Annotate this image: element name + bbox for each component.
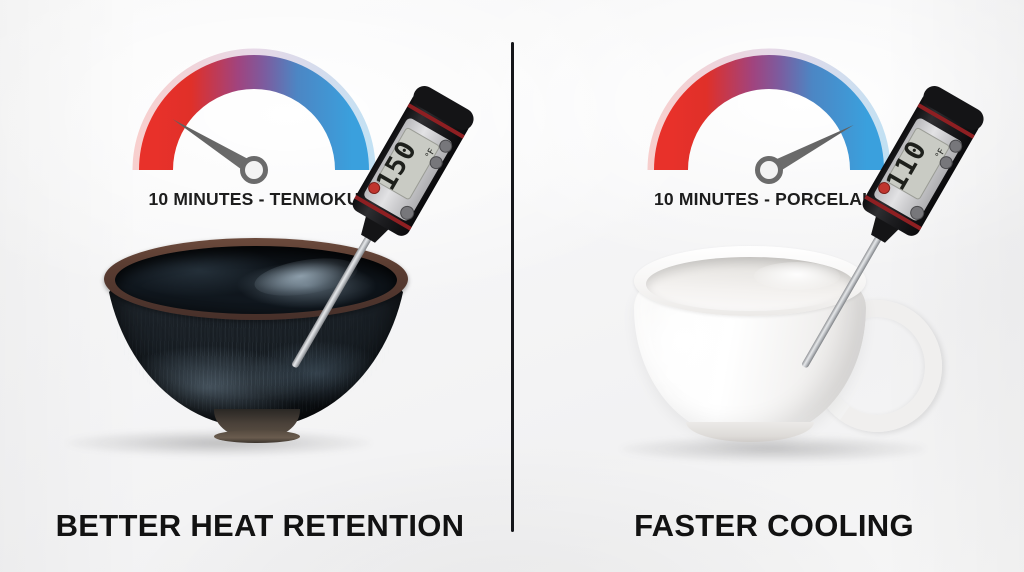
thermometer-probe	[291, 234, 373, 369]
bowl-foot-base	[214, 430, 300, 443]
caption-right: FASTER COOLING	[518, 508, 1024, 544]
panel-left-tenmoku: 10 MINUTES - TENMOKU	[0, 0, 512, 572]
thermometer-assembly-left: 150 °F	[265, 82, 477, 383]
thermometer-left: 150 °F	[258, 100, 378, 400]
thermometer-assembly-right: 110 °F	[775, 82, 987, 383]
caption-left: BETTER HEAT RETENTION	[4, 508, 516, 544]
cup-foot	[686, 422, 814, 442]
panel-right-porcelain: 10 MINUTES - PORCELAIN	[512, 0, 1024, 572]
thermometer-probe	[801, 234, 883, 369]
cup-drop-shadow	[620, 436, 926, 462]
panel-divider	[511, 42, 514, 532]
thermometer-right: 110 °F	[768, 100, 888, 400]
comparison-infographic: 10 MINUTES - TENMOKU	[0, 0, 1024, 572]
